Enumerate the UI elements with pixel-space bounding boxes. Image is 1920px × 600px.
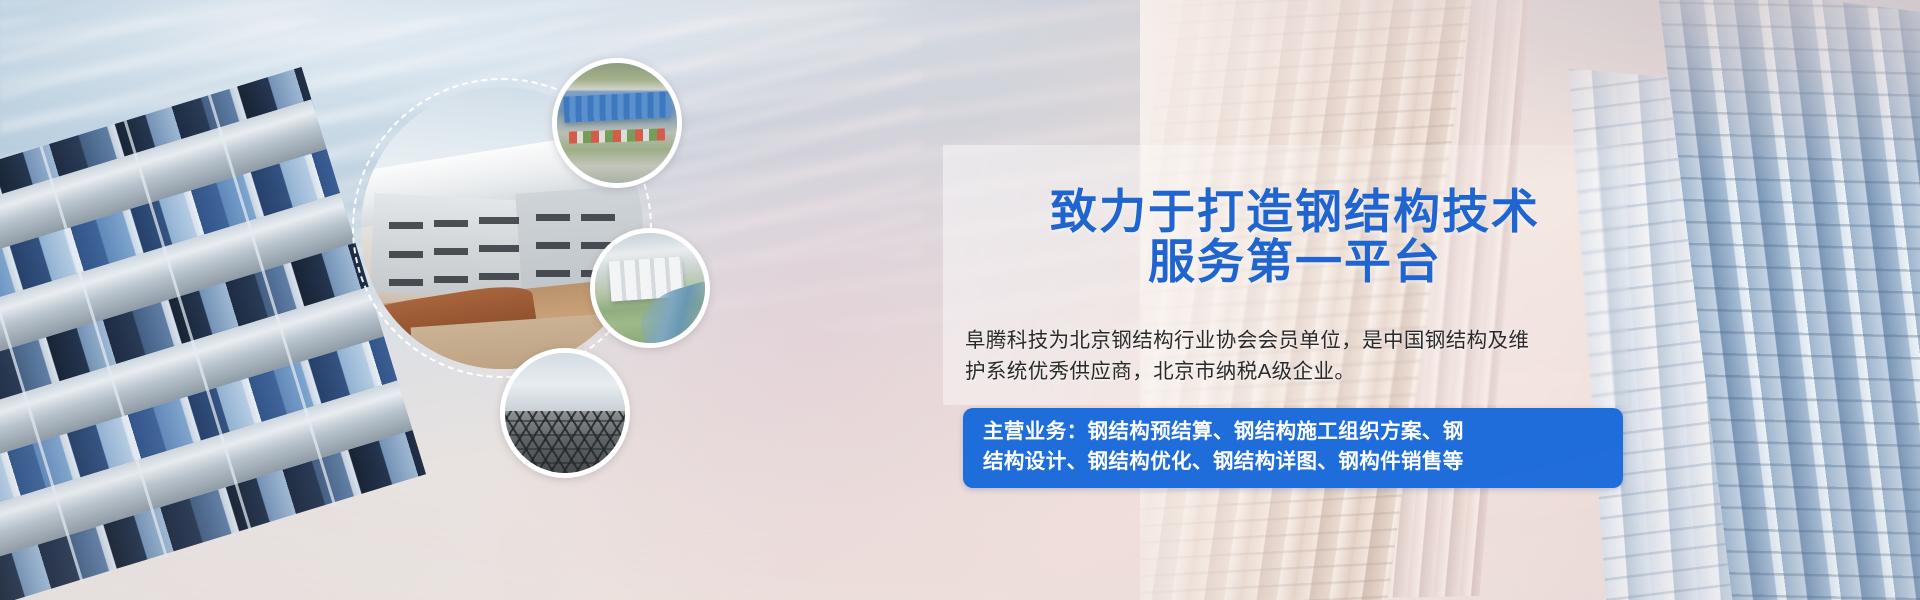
steel-space-frame-truss-photo — [500, 348, 630, 478]
aerial-white-campus-photo — [590, 228, 710, 348]
business-scope-line-2: 结构设计、钢结构优化、钢结构详图、钢构件销售等 — [983, 447, 1607, 477]
description-line-1: 阜腾科技为北京钢结构行业协会会员单位，是中国钢结构及维 — [965, 325, 1625, 356]
hero-banner: 致力于打造钢结构技术 服务第一平台 阜腾科技为北京钢结构行业协会会员单位，是中国… — [0, 0, 1920, 600]
company-description: 阜腾科技为北京钢结构行业协会会员单位，是中国钢结构及维 护系统优秀供应商，北京市… — [965, 325, 1625, 387]
business-scope-line-1: 主营业务：钢结构预结算、钢结构施工组织方案、钢 — [983, 417, 1607, 447]
aerial-blue-roof-factory-photo — [552, 58, 682, 188]
circular-photo-cluster — [352, 58, 752, 478]
business-scope-box: 主营业务：钢结构预结算、钢结构施工组织方案、钢 结构设计、钢结构优化、钢结构详图… — [963, 408, 1623, 488]
description-line-2: 护系统优秀供应商，北京市纳税A级企业。 — [965, 356, 1625, 387]
